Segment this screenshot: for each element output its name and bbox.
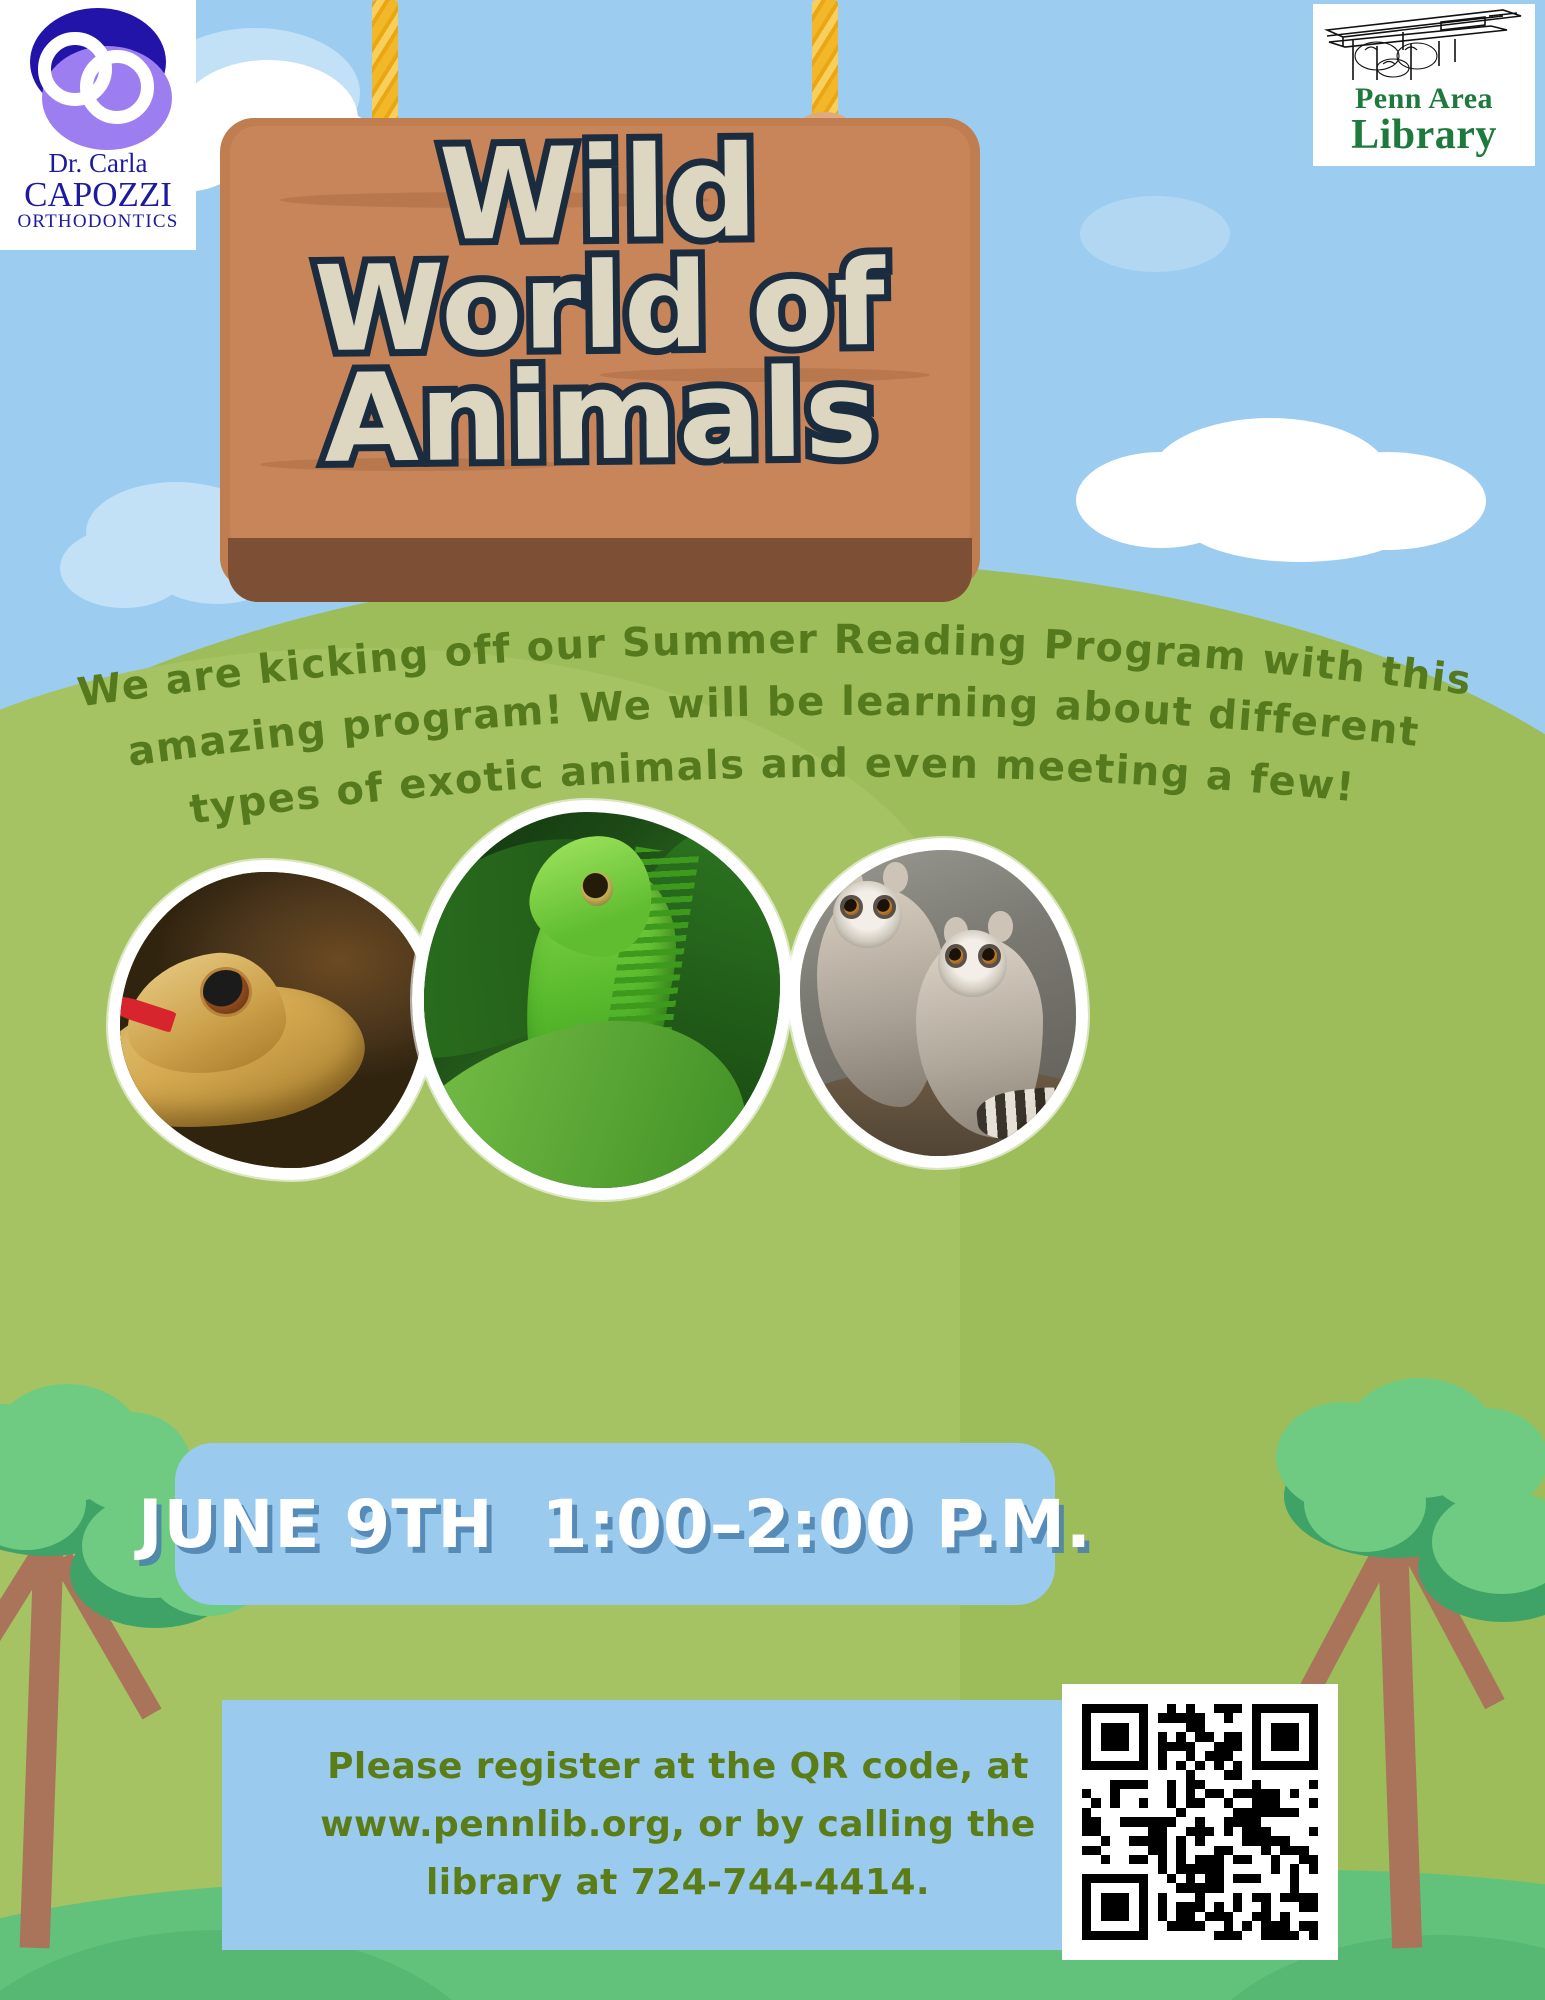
library-name-line-1: Penn Area bbox=[1313, 84, 1535, 114]
lizard-photo bbox=[412, 800, 792, 1200]
library-building-icon bbox=[1321, 6, 1527, 84]
sponsor-name-line-2: CAPOZZI bbox=[0, 177, 196, 212]
cloud-decoration bbox=[1180, 476, 1420, 562]
cloud-decoration bbox=[60, 528, 188, 608]
registration-line-2: www.pennlib.org, or by calling the bbox=[320, 1796, 1035, 1854]
tree-foliage bbox=[1304, 1454, 1426, 1552]
capozzi-mark-icon bbox=[24, 6, 172, 148]
registration-line-3: library at 724-744-4414. bbox=[320, 1854, 1035, 1912]
cloud-decoration bbox=[1080, 196, 1230, 272]
library-logo: Penn Area Library bbox=[1313, 4, 1535, 166]
qr-code-matrix bbox=[1082, 1704, 1318, 1940]
sponsor-name-line-1: Dr. Carla bbox=[0, 150, 196, 177]
registration-banner: Please register at the QR code, at www.p… bbox=[222, 1700, 1134, 1950]
poster-title: Wild World of Animals bbox=[218, 132, 981, 477]
sponsor-logo: Dr. Carla CAPOZZI ORTHODONTICS bbox=[0, 0, 196, 250]
lemur-photo bbox=[788, 838, 1088, 1168]
registration-qr-code[interactable] bbox=[1062, 1684, 1338, 1960]
event-time: 1:00–2:00 P.M. bbox=[542, 1486, 1092, 1563]
poster-root: Wild World of Animals Dr. Carla CAPOZZI … bbox=[0, 0, 1545, 2000]
animal-photo-row bbox=[0, 790, 1545, 1410]
sponsor-name-line-3: ORTHODONTICS bbox=[0, 212, 196, 231]
registration-line-1: Please register at the QR code, at bbox=[320, 1738, 1035, 1796]
event-date: JUNE 9TH bbox=[138, 1486, 494, 1563]
wooden-sign: Wild World of Animals bbox=[220, 118, 980, 598]
sign-board-base bbox=[228, 538, 972, 602]
title-line-3: Animals bbox=[221, 356, 982, 476]
registration-text: Please register at the QR code, at www.p… bbox=[292, 1738, 1063, 1913]
snake-photo bbox=[108, 860, 438, 1180]
event-datetime-banner: JUNE 9TH 1:00–2:00 P.M. bbox=[175, 1443, 1055, 1605]
library-name-line-2: Library bbox=[1313, 114, 1535, 157]
